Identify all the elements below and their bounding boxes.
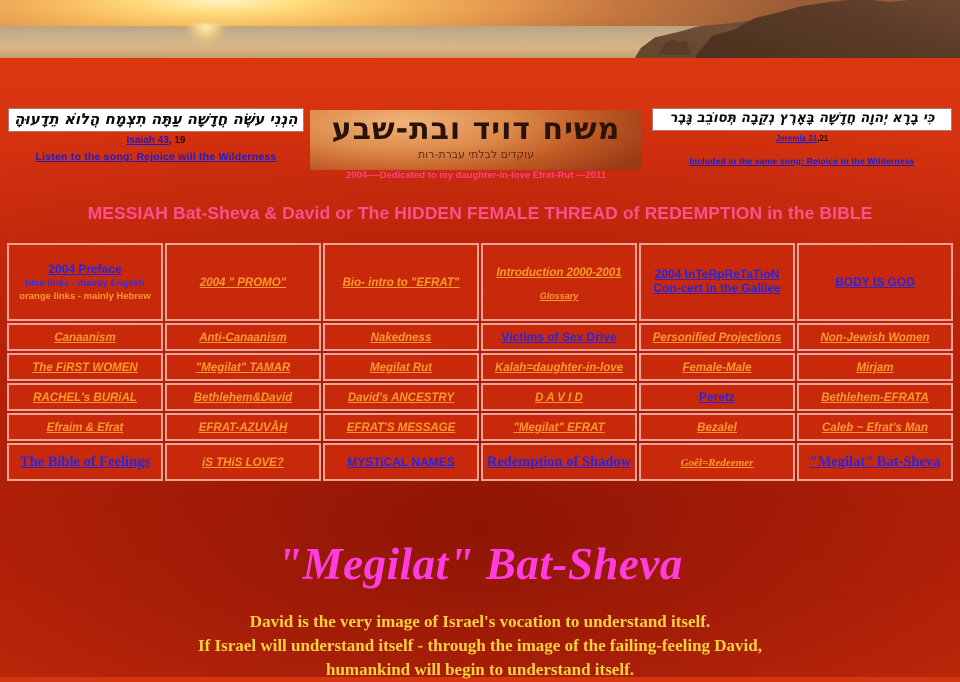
nav-link[interactable]: "Megilat" EFRAT bbox=[513, 422, 604, 436]
nav-link[interactable]: 2004 Preface bbox=[48, 262, 121, 276]
nav-link[interactable]: Introduction 2000-2001 bbox=[496, 267, 621, 281]
nav-link[interactable]: EFRAT'S MESSAGE bbox=[347, 422, 456, 436]
table-cell[interactable]: Peretz bbox=[639, 383, 795, 411]
nav-link[interactable]: Goêl=Redeemer bbox=[681, 457, 754, 470]
table-cell[interactable]: EFRAT'S MESSAGE bbox=[323, 413, 479, 441]
nav-link[interactable]: RACHEL's BURiAL bbox=[33, 392, 137, 406]
jeremia-reference-link[interactable]: Jeremia 31 bbox=[776, 134, 817, 143]
nav-link[interactable]: David's ANCESTRY bbox=[348, 392, 454, 406]
nav-link[interactable]: Mirjam bbox=[856, 362, 893, 376]
nav-link[interactable]: Efraim & Efrat bbox=[47, 422, 124, 436]
nav-link[interactable]: Nakedness bbox=[371, 332, 432, 346]
table-row: CanaanismAnti-CanaanismNakednessVictims … bbox=[7, 323, 953, 351]
navigation-link-table: 2004 Prefaceblue links - mainly Englisho… bbox=[5, 241, 955, 483]
table-cell[interactable]: Victims of Sex Drive bbox=[481, 323, 637, 351]
isaiah-hebrew-verse: הִנְנִי עֹשֶׂה חֲדָשָׁה עַתָּה תִצְמָח ה… bbox=[8, 108, 304, 132]
table-row: 2004 Prefaceblue links - mainly Englisho… bbox=[7, 243, 953, 321]
table-cell[interactable]: Megilat Rut bbox=[323, 353, 479, 381]
table-cell[interactable]: 2004 Prefaceblue links - mainly Englisho… bbox=[7, 243, 163, 321]
table-cell[interactable]: iS THiS LOVE? bbox=[165, 443, 321, 481]
nav-link[interactable]: Caleb ~ Efrat's Man bbox=[822, 422, 928, 436]
nav-link[interactable]: Non-Jewish Women bbox=[820, 332, 929, 346]
nav-link[interactable]: BODY IS GOD bbox=[835, 275, 915, 289]
nav-link[interactable]: Anti-Canaanism bbox=[199, 332, 287, 346]
nav-link[interactable]: Peretz bbox=[699, 390, 735, 404]
verse-block-jeremia: כִּי בָרָא יְהוָה חֲדָשָׁה בָּאָרֶץ נְקֵ… bbox=[652, 108, 952, 166]
table-cell[interactable]: Female-Male bbox=[639, 353, 795, 381]
table-cell[interactable]: The FiRST WOMEN bbox=[7, 353, 163, 381]
nav-link[interactable]: Bethlehem-EFRATA bbox=[821, 392, 929, 406]
isaiah-song-link[interactable]: Listen to the song: Rejoice will the Wil… bbox=[8, 151, 304, 163]
nav-link[interactable]: "Megilat" TAMAR bbox=[196, 362, 290, 376]
nav-link[interactable]: Kalah=daughter-in-love bbox=[495, 362, 623, 376]
table-row: The FiRST WOMEN"Megilat" TAMARMegilat Ru… bbox=[7, 353, 953, 381]
table-cell[interactable]: Nakedness bbox=[323, 323, 479, 351]
table-cell[interactable]: The Bible of Feelings bbox=[7, 443, 163, 481]
nav-link[interactable]: Bezalel bbox=[697, 422, 737, 436]
table-cell[interactable]: Efraim & Efrat bbox=[7, 413, 163, 441]
nav-link[interactable]: The Bible of Feelings bbox=[20, 454, 150, 471]
table-cell[interactable]: BODY IS GOD bbox=[797, 243, 953, 321]
table-cell[interactable]: RACHEL's BURiAL bbox=[7, 383, 163, 411]
table-cell[interactable]: David's ANCESTRY bbox=[323, 383, 479, 411]
table-cell[interactable]: MYSTiCAL NAMES bbox=[323, 443, 479, 481]
nav-link[interactable]: Bio- intro to "EFRAT" bbox=[343, 277, 460, 291]
table-cell[interactable]: Bethlehem&David bbox=[165, 383, 321, 411]
table-cell[interactable]: 2004 " PROMO" bbox=[165, 243, 321, 321]
nav-link[interactable]: Redemption of Shadow bbox=[487, 454, 631, 471]
isaiah-reference-link[interactable]: Isaiah 43 bbox=[127, 135, 169, 146]
table-cell[interactable]: Bethlehem-EFRATA bbox=[797, 383, 953, 411]
table-cell[interactable]: 2004 InTeRpReTaTioN Con-cert in the Gali… bbox=[639, 243, 795, 321]
footer-quote-line-1: David is the very image of Israel's voca… bbox=[0, 610, 960, 634]
page-title: MESSIAH Bat-Sheva & David or The HIDDEN … bbox=[0, 203, 960, 224]
nav-link[interactable]: "Megilat" Bat-Sheva bbox=[810, 454, 941, 471]
table-cell[interactable]: Anti-Canaanism bbox=[165, 323, 321, 351]
table-cell[interactable]: D A V I D bbox=[481, 383, 637, 411]
jeremia-hebrew-verse: כִּי בָרָא יְהוָה חֲדָשָׁה בָּאָרֶץ נְקֵ… bbox=[652, 108, 952, 131]
nav-link[interactable]: 2004 InTeRpReTaTioN Con-cert in the Gali… bbox=[643, 267, 791, 295]
nav-link[interactable]: iS THiS LOVE? bbox=[202, 457, 284, 471]
footer-quote-line-3: humankind will begin to understand itsel… bbox=[0, 658, 960, 682]
table-row: The Bible of FeelingsiS THiS LOVE?MYSTiC… bbox=[7, 443, 953, 481]
link-table-body: 2004 Prefaceblue links - mainly Englisho… bbox=[7, 243, 953, 481]
table-cell[interactable]: Mirjam bbox=[797, 353, 953, 381]
nav-link[interactable]: D A V I D bbox=[535, 392, 583, 406]
table-cell[interactable]: Caleb ~ Efrat's Man bbox=[797, 413, 953, 441]
table-cell[interactable]: "Megilat" Bat-Sheva bbox=[797, 443, 953, 481]
nav-link[interactable]: Bethlehem&David bbox=[194, 392, 292, 406]
messiah-painting-image: משיח דויד ובת-שבע עוקדים לבלתי עברת-רות bbox=[310, 110, 642, 170]
nav-link[interactable]: Personified Projections bbox=[653, 332, 781, 346]
footer-quote-line-2: If Israel will understand itself - throu… bbox=[0, 634, 960, 658]
nav-link[interactable]: 2004 " PROMO" bbox=[200, 277, 286, 291]
table-cell[interactable]: Redemption of Shadow bbox=[481, 443, 637, 481]
table-cell[interactable]: Personified Projections bbox=[639, 323, 795, 351]
jeremia-song-link[interactable]: Included in the same song: Rejoice in th… bbox=[652, 156, 952, 166]
table-cell[interactable]: Kalah=daughter-in-love bbox=[481, 353, 637, 381]
verse-block-isaiah: הִנְנִי עֹשֶׂה חֲדָשָׁה עַתָּה תִצְמָח ה… bbox=[8, 108, 304, 163]
legend-note-blue-links: blue links - mainly English bbox=[11, 278, 159, 291]
sunset-banner-image bbox=[0, 0, 960, 58]
table-cell[interactable]: Canaanism bbox=[7, 323, 163, 351]
table-cell[interactable]: Bezalel bbox=[639, 413, 795, 441]
nav-link[interactable]: Victims of Sex Drive bbox=[501, 330, 616, 344]
nav-link[interactable]: Megilat Rut bbox=[370, 362, 432, 376]
table-cell[interactable]: EFRAT-AZUVÂH bbox=[165, 413, 321, 441]
table-cell[interactable]: Non-Jewish Women bbox=[797, 323, 953, 351]
nav-sublink-glossary[interactable]: Glossary bbox=[485, 291, 633, 302]
banner-sun-reflection bbox=[182, 24, 230, 58]
table-cell[interactable]: Introduction 2000-2001Glossary bbox=[481, 243, 637, 321]
painting-hebrew-large: משיח דויד ובת-שבע bbox=[310, 112, 642, 147]
dedication-caption: 2004----Dedicated to my daughter-in-love… bbox=[310, 170, 642, 181]
jeremia-reference: Jeremia 31,21 bbox=[652, 134, 952, 143]
nav-link[interactable]: The FiRST WOMEN bbox=[32, 362, 137, 376]
table-row: RACHEL's BURiALBethlehem&DavidDavid's AN… bbox=[7, 383, 953, 411]
footer-quote: David is the very image of Israel's voca… bbox=[0, 610, 960, 682]
nav-link[interactable]: MYSTiCAL NAMES bbox=[347, 455, 455, 469]
nav-link[interactable]: EFRAT-AZUVÂH bbox=[199, 422, 288, 436]
table-row: Efraim & EfratEFRAT-AZUVÂHEFRAT'S MESSAG… bbox=[7, 413, 953, 441]
nav-link[interactable]: Female-Male bbox=[682, 362, 751, 376]
megilat-bat-sheva-title: "Megilat" Bat-Sheva bbox=[0, 538, 960, 590]
jeremia-reference-verse: ,21 bbox=[817, 134, 828, 143]
table-cell[interactable]: "Megilat" EFRAT bbox=[481, 413, 637, 441]
painting-hebrew-small: עוקדים לבלתי עברת-רות bbox=[310, 148, 642, 161]
isaiah-reference: Isaiah 43, 19 bbox=[8, 135, 304, 146]
table-cell[interactable]: "Megilat" TAMAR bbox=[165, 353, 321, 381]
nav-link[interactable]: Canaanism bbox=[54, 332, 115, 346]
table-cell[interactable]: Goêl=Redeemer bbox=[639, 443, 795, 481]
isaiah-reference-verse: , 19 bbox=[169, 135, 186, 146]
table-cell[interactable]: Bio- intro to "EFRAT" bbox=[323, 243, 479, 321]
legend-note-orange-links: orange links - mainly Hebrew bbox=[11, 291, 159, 304]
